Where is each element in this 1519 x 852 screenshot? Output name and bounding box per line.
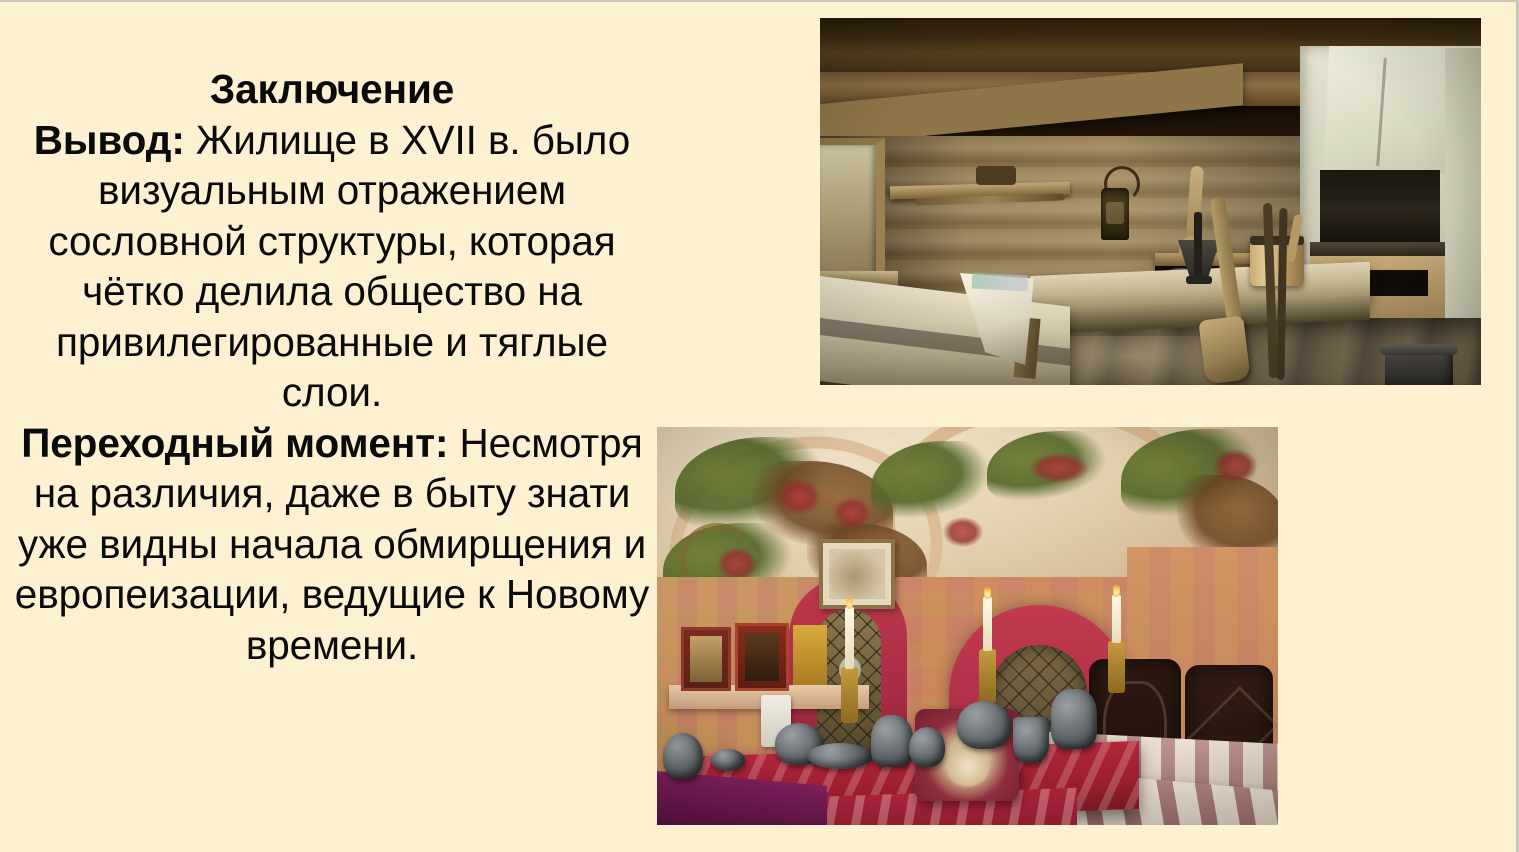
slide-text-block: Заключение Вывод: Жилище в XVII в. было … xyxy=(8,64,656,670)
palace-icon-b xyxy=(735,623,789,691)
izba-window xyxy=(820,138,885,285)
palace-candle-a xyxy=(845,607,854,669)
palace-candlestick-b xyxy=(979,649,996,703)
conclusion-lead-label: Вывод: xyxy=(34,117,185,163)
izba-metal-bucket-lid xyxy=(1380,344,1458,355)
palace-icon-a xyxy=(681,627,731,691)
palace-pewter-ewer xyxy=(1051,689,1097,749)
izba-cloth-embroidery xyxy=(972,273,1029,292)
palace-pewter-plate-left xyxy=(711,749,745,771)
palace-icon-gilded xyxy=(793,625,827,685)
palace-cushion-motif xyxy=(945,745,991,787)
izba-stove-mouth xyxy=(1320,170,1440,244)
izba-stove-side xyxy=(1445,48,1481,348)
palace-ornament-grape-2 xyxy=(833,497,871,529)
presentation-slide: Заключение Вывод: Жилище в XVII в. было … xyxy=(0,0,1519,852)
palace-pewter-goblet-1 xyxy=(871,715,913,767)
palace-pewter-dish-1 xyxy=(807,743,873,769)
palace-candle-b xyxy=(983,597,992,651)
palace-ornament-cartouche xyxy=(1029,453,1089,483)
palace-pewter-cup-1 xyxy=(909,727,945,767)
izba-lantern-icon xyxy=(1101,188,1129,240)
izba-mortar-base xyxy=(1186,276,1212,284)
palace-scene xyxy=(657,427,1278,825)
palace-pewter-jug-left xyxy=(663,733,703,779)
palace-framed-picture xyxy=(819,539,895,609)
palace-ornament-grape-1 xyxy=(777,479,821,515)
palace-candle-c xyxy=(1112,595,1121,643)
palace-candlestick-a xyxy=(841,667,858,723)
izba-bread-peel-blade xyxy=(1198,315,1250,384)
izba-interior-photo xyxy=(820,18,1481,385)
palace-candlestick-c xyxy=(1108,641,1125,693)
izba-stove-ledge xyxy=(1310,242,1445,256)
palace-chamber-photo xyxy=(657,427,1278,825)
palace-pewter-goblet-2 xyxy=(1013,717,1049,763)
izba-shelf-object xyxy=(976,166,1016,185)
palace-ornament-flower-2 xyxy=(943,517,983,547)
transition-lead-label: Переходный момент: xyxy=(21,420,448,466)
izba-pestle xyxy=(1194,212,1202,282)
slide-heading: Заключение xyxy=(8,64,656,115)
izba-scene xyxy=(820,18,1481,385)
palace-pewter-pot-2 xyxy=(957,701,1011,749)
transition-paragraph: Переходный момент: Несмотря на различия,… xyxy=(8,418,656,671)
palace-ornament-flower-1 xyxy=(1213,449,1257,483)
conclusion-paragraph: Вывод: Жилище в XVII в. было визуальным … xyxy=(8,115,656,418)
